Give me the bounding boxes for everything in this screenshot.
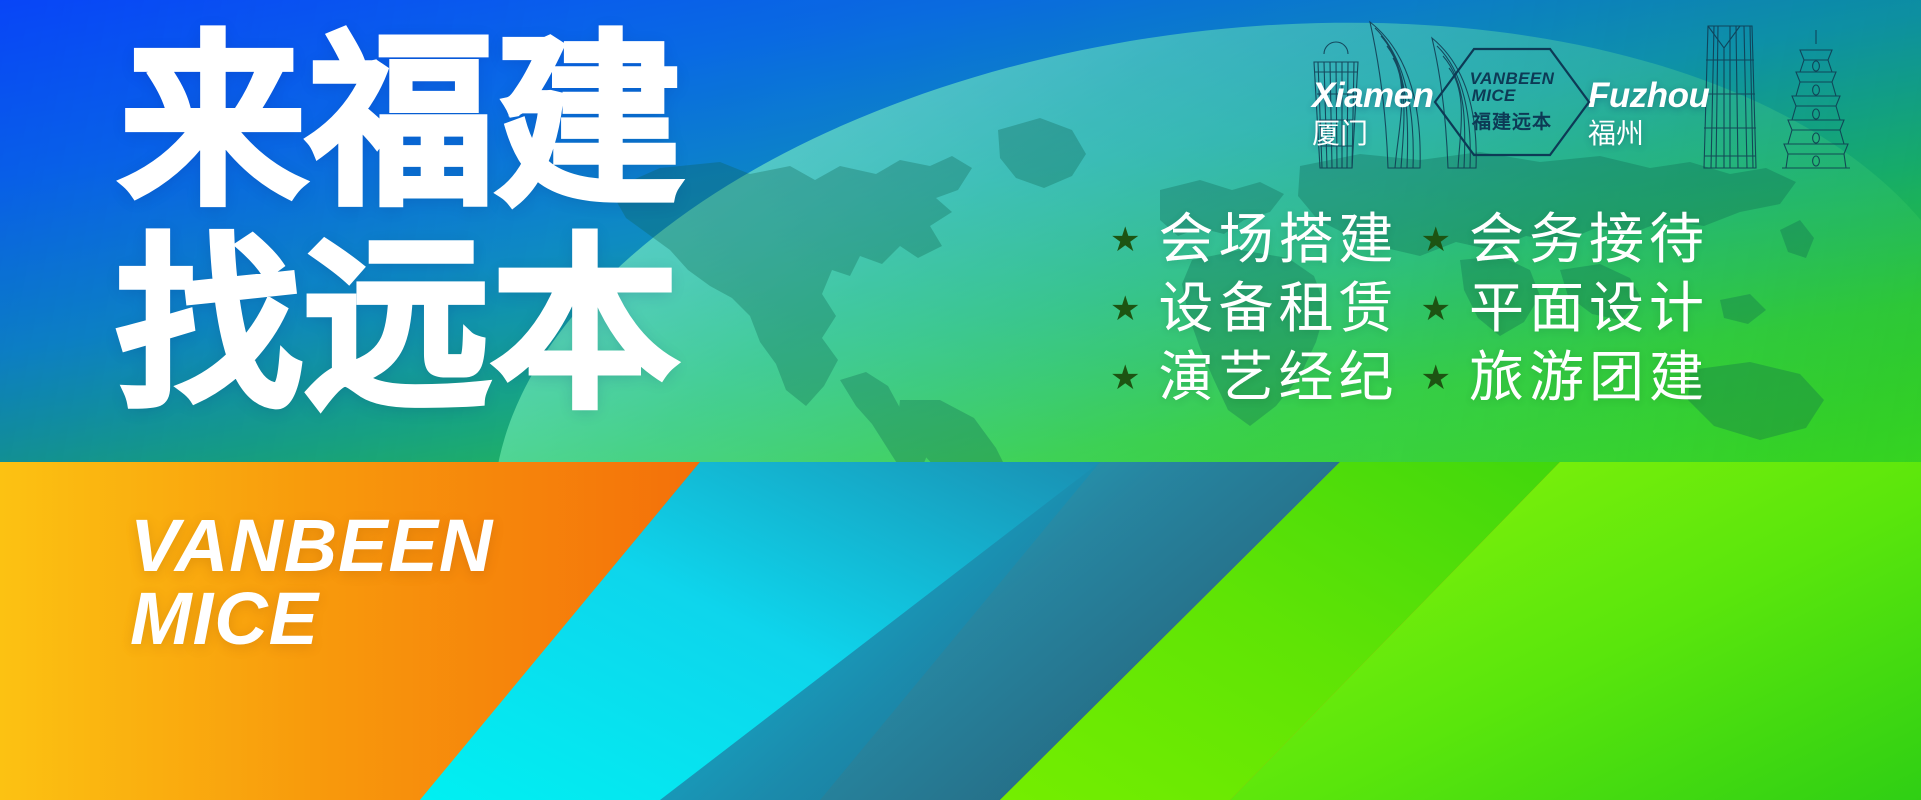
promo-banner: 来福建 找远本 [0, 0, 1921, 800]
city-name-en: Fuzhou [1588, 78, 1709, 113]
service-label: 平面设计 [1469, 281, 1709, 336]
hexagon-brand-line-2: MICE [1470, 87, 1555, 104]
service-item: ★ 会场搭建 [1110, 212, 1399, 267]
service-label: 演艺经纪 [1158, 350, 1398, 405]
service-item: ★ 设备租赁 [1110, 281, 1399, 336]
footer-brand-line-1: VANBEEN [130, 510, 493, 583]
hexagon-logo-text: VANBEEN MICE 福建远本 [1432, 46, 1592, 158]
city-label-fuzhou: Fuzhou 福州 [1588, 78, 1709, 151]
services-list: ★ 会场搭建 ★ 会务接待 ★ 设备租赁 ★ 平面设计 [1110, 212, 1709, 405]
star-icon: ★ [1110, 292, 1140, 326]
star-icon: ★ [1421, 361, 1451, 395]
star-icon: ★ [1110, 223, 1140, 257]
hexagon-logo: VANBEEN MICE 福建远本 [1432, 46, 1592, 158]
services-row: ★ 会场搭建 ★ 会务接待 [1110, 212, 1709, 267]
city-name-cn: 福州 [1588, 116, 1709, 151]
hexagon-brand: VANBEEN MICE [1470, 70, 1555, 105]
services-row: ★ 演艺经纪 ★ 旅游团建 [1110, 350, 1709, 405]
service-item: ★ 演艺经纪 [1110, 350, 1399, 405]
hexagon-brand-line-1: VANBEEN [1470, 70, 1555, 87]
city-name-cn: 厦门 [1312, 116, 1434, 151]
headline-line-1: 来福建 [120, 34, 684, 213]
service-label: 会务接待 [1469, 212, 1709, 267]
star-icon: ★ [1421, 292, 1451, 326]
service-label: 旅游团建 [1469, 350, 1709, 405]
service-item: ★ 会务接待 [1421, 212, 1710, 267]
banner-upper-stage: 来福建 找远本 [0, 0, 1921, 462]
star-icon: ★ [1421, 223, 1451, 257]
hexagon-brand-cn: 福建远本 [1472, 107, 1552, 134]
footer-brand-line-2: MICE [130, 583, 493, 656]
headline: 来福建 找远本 [120, 34, 684, 415]
service-label: 会场搭建 [1158, 212, 1398, 267]
service-item: ★ 旅游团建 [1421, 350, 1710, 405]
footer-brand: VANBEEN MICE [130, 510, 493, 655]
service-label: 设备租赁 [1158, 281, 1398, 336]
service-item: ★ 平面设计 [1421, 281, 1710, 336]
headline-line-2: 找远本 [116, 237, 684, 416]
city-name-en: Xiamen [1312, 78, 1434, 113]
star-icon: ★ [1110, 361, 1140, 395]
services-row: ★ 设备租赁 ★ 平面设计 [1110, 281, 1709, 336]
footer-band: VANBEEN MICE [0, 462, 1921, 800]
city-logo-bar: Xiamen 厦门 Fuzhou 福州 VANBEEN MICE 福建远本 [1300, 8, 1910, 178]
city-label-xiamen: Xiamen 厦门 [1312, 78, 1434, 151]
